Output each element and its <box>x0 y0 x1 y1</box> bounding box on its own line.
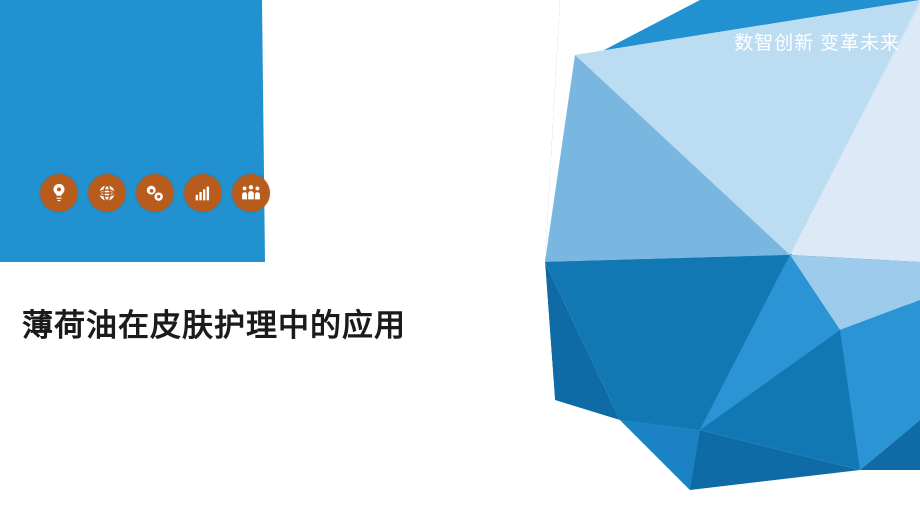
bar-chart-icon <box>184 174 222 212</box>
gears-icon <box>136 174 174 212</box>
icon-badge-row <box>40 174 270 212</box>
background-graphic <box>0 0 920 518</box>
slide-title: 薄荷油在皮肤护理中的应用 <box>22 300 406 345</box>
lightbulb-gear-icon <box>40 174 78 212</box>
slide-tagline: 数智创新 变革未来 <box>734 28 900 55</box>
globe-icon <box>88 174 126 212</box>
people-group-icon <box>232 174 270 212</box>
presentation-slide: 数智创新 变革未来 <box>0 0 920 518</box>
